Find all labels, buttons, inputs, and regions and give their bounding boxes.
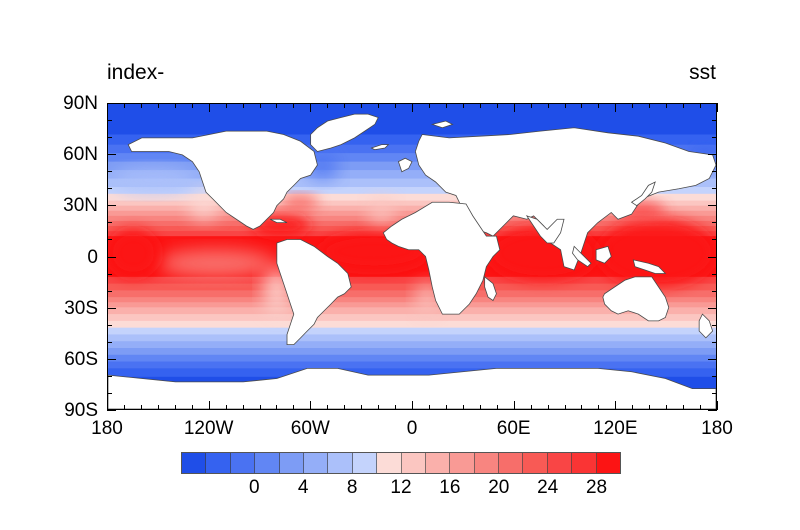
colorbar-cell-5 — [304, 453, 328, 473]
x-tick-top--140 — [175, 103, 176, 108]
y-tick-right-30 — [708, 205, 717, 206]
x-tick--90 — [260, 405, 261, 410]
x-tick-top--170 — [124, 103, 125, 108]
x-tick-top--120 — [209, 103, 210, 112]
y-tick-40 — [107, 188, 112, 189]
colorbar-cell-2 — [231, 453, 255, 473]
x-tick-150 — [666, 405, 667, 410]
x-tick-140 — [649, 405, 650, 410]
x-tick-80 — [548, 405, 549, 410]
x-tick--110 — [226, 405, 227, 410]
x-tick-top-160 — [683, 103, 684, 108]
x-tick-top--50 — [327, 103, 328, 108]
x-tick--130 — [192, 405, 193, 410]
x-tick-top-180 — [717, 103, 718, 112]
y-tick-right-60 — [708, 154, 717, 155]
colorbar-cell-10 — [426, 453, 450, 473]
colorbar-cell-8 — [377, 453, 401, 473]
x-tick-top-20 — [446, 103, 447, 108]
x-tick-90 — [565, 405, 566, 410]
colorbar — [181, 452, 621, 474]
x-tick--180 — [107, 401, 108, 410]
y-tick-60 — [107, 154, 116, 155]
colorbar-cell-4 — [280, 453, 304, 473]
x-tick-label-0: 180 — [91, 419, 123, 438]
colorbar-tick-label-7: 28 — [586, 478, 607, 497]
y-tick-right--10 — [712, 274, 717, 275]
y-tick--40 — [107, 325, 112, 326]
y-tick--90 — [107, 410, 116, 411]
x-tick--120 — [209, 401, 210, 410]
y-tick-label-2: 30N — [63, 196, 98, 215]
x-tick--60 — [310, 401, 311, 410]
colorbar-tick-label-6: 24 — [537, 478, 558, 497]
y-tick-right-20 — [712, 222, 717, 223]
colorbar-cell-12 — [475, 453, 499, 473]
x-tick--140 — [175, 405, 176, 410]
x-tick-top-80 — [548, 103, 549, 108]
y-tick-right--70 — [712, 376, 717, 377]
x-tick-top-50 — [497, 103, 498, 108]
x-tick-top--70 — [293, 103, 294, 108]
colorbar-cell-6 — [328, 453, 352, 473]
x-tick-30 — [463, 405, 464, 410]
colorbar-cell-16 — [572, 453, 596, 473]
x-tick-top--60 — [310, 103, 311, 112]
x-tick--80 — [276, 405, 277, 410]
x-tick-top-10 — [429, 103, 430, 108]
x-tick-top--180 — [107, 103, 108, 112]
x-tick-180 — [717, 401, 718, 410]
x-tick-top--100 — [243, 103, 244, 108]
y-tick-80 — [107, 120, 112, 121]
x-tick-label-5: 120E — [593, 419, 637, 438]
x-tick--50 — [327, 405, 328, 410]
y-tick-right-50 — [712, 171, 717, 172]
y-tick--10 — [107, 274, 112, 275]
colorbar-labels: 0481216202428 — [0, 478, 800, 502]
x-tick-top-120 — [615, 103, 616, 112]
x-tick-0 — [412, 401, 413, 410]
y-tick--80 — [107, 393, 112, 394]
x-tick-top-60 — [514, 103, 515, 112]
x-tick-40 — [480, 405, 481, 410]
y-tick-right-90 — [708, 103, 717, 104]
x-tick-top--90 — [260, 103, 261, 108]
x-tick--40 — [344, 405, 345, 410]
colorbar-tick-label-3: 12 — [390, 478, 411, 497]
y-tick-right--60 — [708, 359, 717, 360]
x-tick--100 — [243, 405, 244, 410]
x-tick-top-110 — [598, 103, 599, 108]
x-tick-top--130 — [192, 103, 193, 108]
y-tick-right-70 — [712, 137, 717, 138]
y-tick--60 — [107, 359, 116, 360]
colorbar-cell-9 — [402, 453, 426, 473]
x-tick-top-30 — [463, 103, 464, 108]
x-tick-100 — [581, 405, 582, 410]
y-tick-0 — [107, 257, 116, 258]
x-tick-160 — [683, 405, 684, 410]
y-tick-right--80 — [712, 393, 717, 394]
y-tick-label-4: 30S — [64, 299, 98, 318]
x-tick-170 — [700, 405, 701, 410]
x-tick-top--30 — [361, 103, 362, 108]
x-tick-label-4: 60E — [497, 419, 531, 438]
y-tick-30 — [107, 205, 116, 206]
y-tick-label-3: 0 — [87, 248, 98, 267]
x-axis-labels: 180120W60W060E120E180 — [0, 419, 800, 443]
x-tick-20 — [446, 405, 447, 410]
colorbar-cell-15 — [548, 453, 572, 473]
colorbar-tick-label-0: 0 — [249, 478, 260, 497]
y-tick-right--50 — [712, 342, 717, 343]
x-tick-110 — [598, 405, 599, 410]
x-tick-top-150 — [666, 103, 667, 108]
x-tick-120 — [615, 401, 616, 410]
x-tick-top-90 — [565, 103, 566, 108]
y-tick-10 — [107, 239, 112, 240]
x-tick-60 — [514, 401, 515, 410]
colorbar-tick-label-2: 8 — [347, 478, 358, 497]
y-tick-90 — [107, 103, 116, 104]
x-tick-top-130 — [632, 103, 633, 108]
x-tick-130 — [632, 405, 633, 410]
x-tick-top--160 — [141, 103, 142, 108]
x-tick--30 — [361, 405, 362, 410]
x-tick-top--80 — [276, 103, 277, 108]
y-tick-right-40 — [712, 188, 717, 189]
x-tick-50 — [497, 405, 498, 410]
colorbar-cell-13 — [499, 453, 523, 473]
y-tick-right--40 — [712, 325, 717, 326]
y-tick--50 — [107, 342, 112, 343]
y-tick-70 — [107, 137, 112, 138]
y-tick--30 — [107, 308, 116, 309]
y-axis-labels: 90N60N30N030S60S90S — [0, 0, 800, 530]
x-tick-top--10 — [395, 103, 396, 108]
colorbar-cell-11 — [450, 453, 474, 473]
x-tick-label-3: 0 — [407, 419, 418, 438]
colorbar-cell-14 — [523, 453, 547, 473]
colorbar-cell-3 — [255, 453, 279, 473]
x-tick-70 — [531, 405, 532, 410]
x-tick-top--110 — [226, 103, 227, 108]
x-tick-label-1: 120W — [184, 419, 234, 438]
x-tick-top--20 — [378, 103, 379, 108]
x-tick-top-170 — [700, 103, 701, 108]
x-tick--20 — [378, 405, 379, 410]
x-tick-top-0 — [412, 103, 413, 112]
x-tick--170 — [124, 405, 125, 410]
x-tick--70 — [293, 405, 294, 410]
x-tick-top--150 — [158, 103, 159, 108]
colorbar-tick-label-4: 16 — [439, 478, 460, 497]
colorbar-cell-0 — [182, 453, 206, 473]
colorbar-cell-17 — [597, 453, 620, 473]
x-tick-top-140 — [649, 103, 650, 108]
colorbar-cell-7 — [353, 453, 377, 473]
x-tick-label-6: 180 — [701, 419, 733, 438]
colorbar-cell-1 — [206, 453, 230, 473]
x-tick-top-40 — [480, 103, 481, 108]
colorbar-tick-label-1: 4 — [298, 478, 309, 497]
y-tick--20 — [107, 291, 112, 292]
x-tick-10 — [429, 405, 430, 410]
y-tick-right--20 — [712, 291, 717, 292]
y-tick-50 — [107, 171, 112, 172]
y-tick-right-10 — [712, 239, 717, 240]
x-tick--10 — [395, 405, 396, 410]
y-tick-right--30 — [708, 308, 717, 309]
y-tick-label-0: 90N — [63, 94, 98, 113]
y-tick-label-1: 60N — [63, 145, 98, 164]
y-tick-right-80 — [712, 120, 717, 121]
x-tick-top--40 — [344, 103, 345, 108]
x-tick--160 — [141, 405, 142, 410]
colorbar-tick-label-5: 20 — [488, 478, 509, 497]
x-tick-label-2: 60W — [291, 419, 330, 438]
x-tick-top-70 — [531, 103, 532, 108]
x-tick-top-100 — [581, 103, 582, 108]
y-tick--70 — [107, 376, 112, 377]
y-tick-right-0 — [708, 257, 717, 258]
x-tick--150 — [158, 405, 159, 410]
y-tick-label-5: 60S — [64, 350, 98, 369]
y-tick-20 — [107, 222, 112, 223]
sst-map-figure: index- sst 90N60N30N030S60S90S 180120W60… — [0, 0, 800, 530]
y-tick-right--90 — [708, 410, 717, 411]
